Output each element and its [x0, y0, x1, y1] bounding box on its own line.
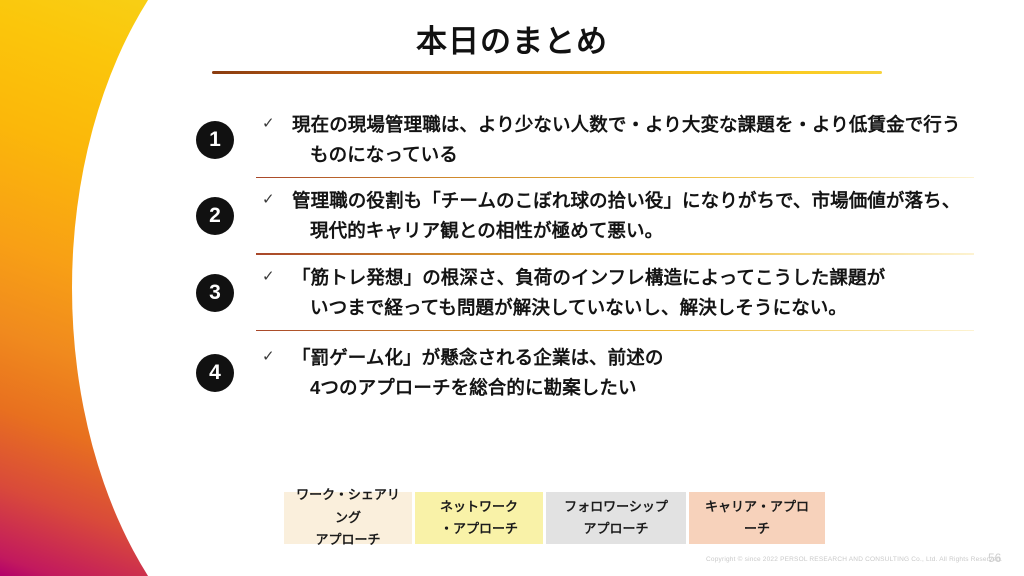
item-text: 「筋トレ発想」の根深さ、負荷のインフレ構造によってこうした課題が いつまで経って…	[292, 261, 996, 323]
approach-box-label: ネットワーク ・アプローチ	[440, 496, 518, 541]
approach-box-network[interactable]: ネットワーク ・アプローチ	[415, 492, 543, 544]
list-item: 1 ✓ 現在の現場管理職は、より少ない人数で・より大変な課題を・より低賃金で行う…	[196, 108, 996, 170]
item-text-line2: ものになっている	[292, 140, 996, 170]
page-title: 本日のまとめ	[0, 16, 1024, 61]
list-separator	[256, 253, 974, 255]
copyright-notice: Copyright © since 2022 PERSOL RESEARCH A…	[706, 556, 1002, 563]
title-divider-rule	[212, 71, 882, 74]
check-icon: ✓	[262, 116, 292, 131]
item-number-badge: 3	[196, 274, 234, 312]
approach-box-work-sharing[interactable]: ワーク・シェアリング アプローチ	[284, 492, 412, 544]
check-icon: ✓	[262, 192, 292, 207]
list-item: 3 ✓ 「筋トレ発想」の根深さ、負荷のインフレ構造によってこうした課題が いつま…	[196, 261, 996, 323]
item-text-line1: 管理職の役割も「チームのこぼれ球の拾い役」になりがちで、市場価値が落ち、	[292, 190, 960, 211]
item-text: 管理職の役割も「チームのこぼれ球の拾い役」になりがちで、市場価値が落ち、 現代的…	[292, 184, 996, 246]
item-number-badge: 1	[196, 121, 234, 159]
item-text: 「罰ゲーム化」が懸念される企業は、前述の 4つのアプローチを総合的に勘案したい	[292, 341, 996, 403]
approach-box-label: ワーク・シェアリング アプローチ	[294, 484, 402, 551]
item-text-line1: 「筋トレ発想」の根深さ、負荷のインフレ構造によってこうした課題が	[292, 267, 885, 288]
list-item: 4 ✓ 「罰ゲーム化」が懸念される企業は、前述の 4つのアプローチを総合的に勘案…	[196, 341, 996, 403]
list-separator	[256, 177, 974, 179]
item-text-line2: いつまで経っても問題が解決していないし、解決しそうにない。	[292, 293, 996, 323]
item-text-line1: 「罰ゲーム化」が懸念される企業は、前述の	[292, 347, 663, 368]
item-text-line2: 4つのアプローチを総合的に勘案したい	[292, 373, 996, 403]
list-separator	[256, 330, 974, 332]
approach-box-career[interactable]: キャリア・アプローチ	[689, 492, 825, 544]
approach-box-followership[interactable]: フォロワーシップ アプローチ	[546, 492, 686, 544]
item-text-line1: 現在の現場管理職は、より少ない人数で・より大変な課題を・より低賃金で行う	[292, 114, 961, 135]
item-text-line2: 現代的キャリア観との相性が極めて悪い。	[292, 216, 996, 246]
summary-list: 1 ✓ 現在の現場管理職は、より少ない人数で・より大変な課題を・より低賃金で行う…	[196, 108, 996, 403]
approach-box-group: ワーク・シェアリング アプローチ ネットワーク ・アプローチ フォロワーシップ …	[284, 492, 825, 544]
approach-box-label: キャリア・アプローチ	[699, 496, 815, 541]
decorative-gradient-band	[0, 0, 200, 576]
item-number-badge: 2	[196, 197, 234, 235]
list-item: 2 ✓ 管理職の役割も「チームのこぼれ球の拾い役」になりがちで、市場価値が落ち、…	[196, 184, 996, 246]
check-icon: ✓	[262, 269, 292, 284]
check-icon: ✓	[262, 349, 292, 364]
page-number: 56	[988, 551, 1001, 565]
item-text: 現在の現場管理職は、より少ない人数で・より大変な課題を・より低賃金で行う ものに…	[292, 108, 996, 170]
slide-canvas: 本日のまとめ 1 ✓ 現在の現場管理職は、より少ない人数で・より大変な課題を・よ…	[0, 0, 1024, 576]
item-number-badge: 4	[196, 354, 234, 392]
approach-box-label: フォロワーシップ アプローチ	[564, 496, 668, 541]
